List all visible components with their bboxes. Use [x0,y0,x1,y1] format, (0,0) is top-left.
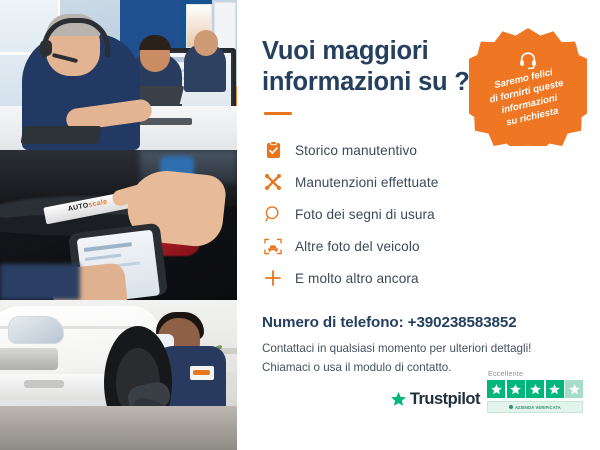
star-icon [507,380,525,398]
car-scan-icon [262,236,284,256]
headline-line-2: informazioni su ? [262,68,470,96]
list-item: E molto altro ancora [262,264,578,292]
crossed-tools-icon [262,172,284,192]
call-center-photo [0,0,237,150]
star-icon-partial [565,380,583,398]
trustpilot-star-icon [390,391,407,408]
feature-label: Manutenzioni effettuate [295,175,438,190]
content-panel: Vuoi maggiori informazioni su ? Saremo f… [237,0,600,450]
trustpilot-widget[interactable]: Trustpilot Eccellente [390,369,583,413]
photo-column: AUTOscale [0,0,237,450]
mechanic-wheel-photo [0,300,237,450]
list-item: Altre foto del veicolo [262,232,578,260]
vehicle-inspection-photo: AUTOscale [0,150,237,300]
magnifier-icon [262,204,284,224]
promo-banner: AUTOscale [0,0,600,450]
feature-label: E molto altro ancora [295,271,419,286]
headset-icon [519,50,538,69]
callout-badge: Saremo felici di fornirti queste informa… [469,28,587,146]
star-icon [546,380,564,398]
verified-business-badge: AZIENDA VERIFICATA [487,401,583,413]
feature-label: Altre foto del veicolo [295,239,420,254]
contact-subtext-line-1: Contattaci in qualsiasi momento per ulte… [262,342,531,355]
star-icon [487,380,505,398]
star-icon [526,380,544,398]
phone-heading: Numero di telefono: +390238583852 [262,314,578,331]
clipboard-check-icon [262,140,284,160]
rating-label: Eccellente [487,369,523,378]
feature-list: Storico manutentivo Manutenzioni effettu… [262,136,578,292]
verified-label: AZIENDA VERIFICATA [515,405,561,410]
headline-line-1: Vuoi maggiori [262,37,428,65]
plus-icon [262,268,284,288]
feature-label: Storico manutentivo [295,143,417,158]
list-item: Manutenzioni effettuate [262,168,578,196]
list-item: Foto dei segni di usura [262,200,578,228]
title-divider [264,112,292,115]
feature-label: Foto dei segni di usura [295,207,435,222]
verified-check-icon [509,405,513,409]
star-rating [487,380,583,398]
trustpilot-wordmark: Trustpilot [410,390,480,409]
phone-number[interactable]: +390238583852 [408,314,517,331]
phone-label: Numero di telefono: [262,314,404,331]
trustpilot-logo: Trustpilot [390,390,480,413]
page-title: Vuoi maggiori informazioni su ? [262,36,472,98]
